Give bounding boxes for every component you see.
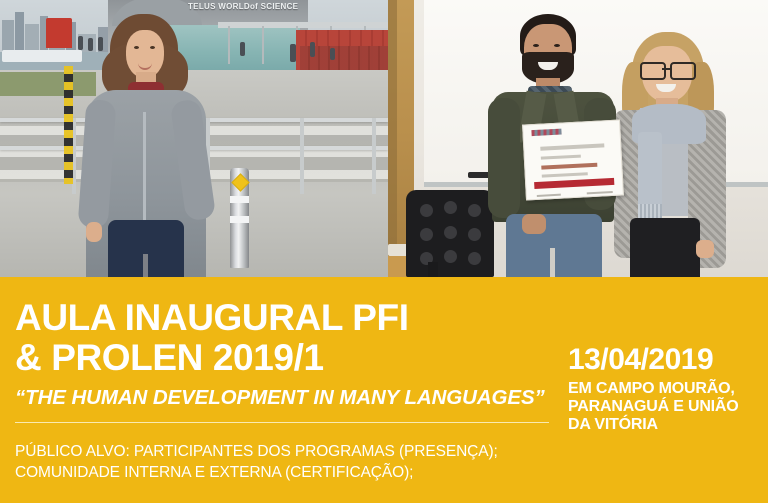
event-date: 13/04/2019 [568,345,768,375]
woman-subject-left [80,8,210,277]
yellow-black-post [64,66,73,184]
banner-right-column: 13/04/2019 EM CAMPO MOURÃO, PARANAGUÁ E … [568,345,768,434]
info-banner: AULA INAUGURAL PFI & PROLEN 2019/1 “THE … [0,277,768,503]
location-line-3: DA VITÓRIA [568,416,768,434]
photo-woman-telus-world-of-science: TELUS WORLDof SCIENCE [0,0,388,277]
audience-info: PÚBLICO ALVO: PARTICIPANTES DOS PROGRAMA… [15,442,555,484]
audience-line-1: PÚBLICO ALVO: PARTICIPANTES DOS PROGRAMA… [15,442,555,463]
eyeglasses [640,62,694,76]
perforated-chair [406,190,494,277]
poster-root: TELUS WORLDof SCIENCE [0,0,768,503]
divider-rule [15,422,549,423]
certificate-document [522,119,624,200]
location-line-2: PARANAGUÁ E UNIÃO [568,398,768,416]
plaza-canopy [218,22,388,28]
banner-left-column: AULA INAUGURAL PFI & PROLEN 2019/1 “THE … [15,277,555,484]
location-line-1: EM CAMPO MOURÃO, [568,380,768,398]
boats [2,50,82,62]
poster-title-line-2: & PROLEN 2019/1 [15,339,555,376]
poster-subtitle: “THE HUMAN DEVELOPMENT IN MANY LANGUAGES… [15,386,555,410]
red-kiosk [46,18,72,48]
photo-certificate-award [388,0,768,277]
event-location: EM CAMPO MOURÃO, PARANAGUÁ E UNIÃO DA VI… [568,380,768,434]
audience-line-2: COMUNIDADE INTERNA E EXTERNA (CERTIFICAÇ… [15,463,555,484]
woman-subject-right [612,32,730,277]
poster-title-line-1: AULA INAUGURAL PFI [15,299,555,336]
photo-band: TELUS WORLDof SCIENCE [0,0,768,277]
